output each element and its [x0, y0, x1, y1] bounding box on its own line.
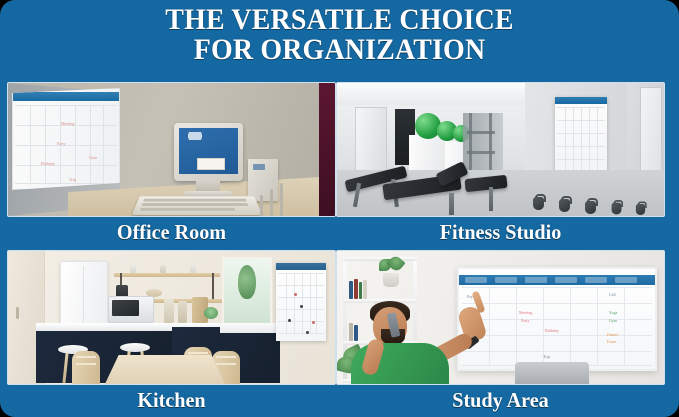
kettlebell-icon	[559, 199, 570, 212]
laptop-icon	[515, 362, 589, 384]
cable	[260, 195, 263, 217]
jar-icon	[160, 265, 166, 273]
poster-root: THE VERSATILE CHOICE FOR ORGANIZATION	[0, 0, 679, 417]
kettlebell-icon	[533, 197, 544, 210]
shelf-bracket	[212, 273, 214, 299]
cable	[270, 189, 273, 217]
wall-calendar-icon	[276, 263, 326, 341]
card-office: Meeting Party Birthday Gym Trip	[7, 82, 343, 246]
card-caption-fitness: Fitness Studio	[343, 217, 659, 246]
calendar-marker	[306, 331, 309, 334]
wall-calendar-icon: Meeting Party Birthday Gym Trip	[12, 88, 120, 190]
page-title: THE VERSATILE CHOICE FOR ORGANIZATION	[24, 5, 655, 65]
calendar-note: Meeting	[519, 311, 532, 315]
book-icon	[354, 279, 358, 299]
book-icon	[354, 325, 358, 341]
card-caption-kitchen: Kitchen	[14, 385, 330, 414]
container-icon	[178, 301, 187, 323]
calendar-note: Trip	[69, 177, 76, 182]
study-photo: Pay Day Meeting Party Birthday Call Yoga…	[336, 250, 665, 385]
potted-plant-icon	[204, 307, 218, 319]
book-icon	[363, 280, 367, 299]
calendar-marker	[300, 305, 303, 308]
calendar-grid	[15, 105, 117, 185]
wall-calendar-icon	[555, 97, 607, 179]
cable	[280, 183, 283, 217]
monitor-screen	[179, 128, 238, 174]
card-caption-study: Study Area	[343, 385, 659, 414]
gym-ceiling	[337, 83, 525, 105]
calendar-marker	[312, 321, 315, 324]
computer-tower-icon	[248, 159, 278, 201]
kettlebell-icon	[585, 201, 596, 214]
gym-door	[355, 107, 387, 171]
wall-calendar-icon: Pay Day Meeting Party Birthday Call Yoga…	[457, 267, 657, 371]
kitchen-photo	[7, 250, 336, 385]
tower-logo	[253, 164, 265, 170]
calendar-header	[276, 263, 326, 270]
calendar-note: Call	[609, 293, 616, 297]
calendar-header	[555, 97, 607, 104]
calendar-marker	[288, 319, 291, 322]
office-photo: Meeting Party Birthday Gym Trip	[7, 82, 336, 217]
bench-leg	[449, 193, 454, 215]
book-icon	[349, 281, 353, 299]
counter-right	[220, 323, 280, 333]
calendar-note: Birthday	[41, 161, 55, 166]
kitchen-window	[222, 257, 272, 327]
microwave-icon	[108, 296, 154, 323]
stool-icon	[120, 343, 150, 352]
calendar-note: Trip	[543, 355, 550, 359]
book-icon	[349, 323, 353, 341]
refrigerator-icon	[60, 261, 108, 329]
title-line-2: FOR ORGANIZATION	[24, 35, 655, 65]
chair-icon	[72, 351, 100, 385]
card-kitchen: Kitchen	[7, 250, 343, 414]
dining-table-icon	[104, 355, 226, 385]
kettlebell-icon	[612, 203, 622, 215]
card-fitness: Fitness Studio	[336, 82, 672, 246]
calendar-note: Birthday	[545, 329, 559, 333]
calendar-note: Exam	[607, 340, 616, 344]
wall-shelf	[114, 273, 220, 277]
computer-monitor-icon	[174, 123, 243, 181]
calendar-note: Party	[57, 141, 65, 146]
keyboard-icon	[132, 196, 262, 215]
calendar-note: Party	[521, 319, 529, 323]
cubicle-panel	[319, 83, 335, 216]
calendar-note: Meeting	[61, 121, 74, 126]
kettlebell-icon	[636, 204, 645, 215]
calendar-grid	[462, 287, 652, 366]
fitness-photo	[336, 82, 665, 217]
calendar-grid	[557, 107, 605, 176]
calendar-marker	[294, 293, 297, 296]
book-icon	[359, 282, 362, 299]
calendar-note: Gym	[609, 319, 617, 323]
door-handle-icon	[16, 307, 19, 319]
feature-grid: Meeting Party Birthday Gym Trip	[7, 82, 672, 410]
calendar-header	[459, 275, 655, 285]
sticky-note-icon	[197, 158, 225, 170]
jar-icon	[190, 263, 196, 273]
card-study: Pay Day Meeting Party Birthday Call Yoga…	[336, 250, 672, 414]
bench-leg	[489, 187, 493, 211]
calendar-note: Dinner	[607, 333, 618, 337]
jar-icon	[130, 263, 136, 273]
calendar-note: Gym	[89, 155, 97, 160]
card-caption-office: Office Room	[14, 217, 330, 246]
brand-logo-icon	[184, 132, 206, 140]
title-line-1: THE VERSATILE CHOICE	[165, 3, 513, 36]
plant-pot-icon	[383, 273, 399, 287]
container-icon	[164, 299, 174, 323]
calendar-note: Yoga	[609, 311, 617, 315]
calendar-header	[13, 92, 119, 101]
